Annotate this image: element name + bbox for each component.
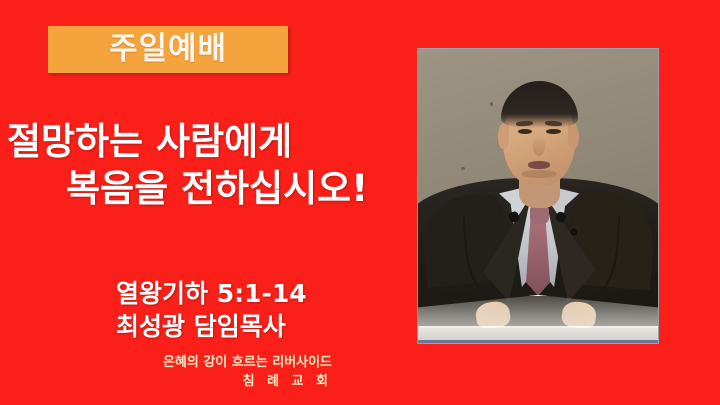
sermon-title-line-2: 복음을 전하십시오!	[0, 165, 430, 212]
wall-mark-icon	[490, 102, 493, 106]
service-category-badge: 주일예배	[48, 26, 288, 73]
ear-right	[568, 123, 579, 149]
sermon-title-line-1: 절망하는 사람에게	[0, 118, 430, 165]
preacher-name: 최성광 담임목사	[116, 310, 416, 343]
necktie-knot	[530, 206, 549, 224]
church-name-line-1: 은혜의 강이 흐르는 리버사이드	[0, 353, 332, 372]
ear-left	[498, 123, 509, 149]
sermon-meta: 열왕기하 5:1-14 최성광 담임목사	[116, 277, 416, 344]
mouth	[528, 161, 550, 169]
church-name-line-2: 침 례 교 회	[0, 372, 332, 391]
photo-bottom-strip	[418, 340, 658, 343]
preacher-photo-frame	[417, 48, 659, 344]
preacher-photo	[418, 49, 658, 343]
service-category-label: 주일예배	[109, 34, 227, 65]
church-name: 은혜의 강이 흐르는 리버사이드 침 례 교 회	[0, 353, 332, 391]
wall-mark-icon	[461, 167, 465, 170]
sermon-title: 절망하는 사람에게 복음을 전하십시오!	[0, 118, 430, 213]
sermon-slide: 주일예배 절망하는 사람에게 복음을 전하십시오! 열왕기하 5:1-14 최성…	[0, 0, 720, 405]
scripture-reference: 열왕기하 5:1-14	[116, 277, 416, 310]
